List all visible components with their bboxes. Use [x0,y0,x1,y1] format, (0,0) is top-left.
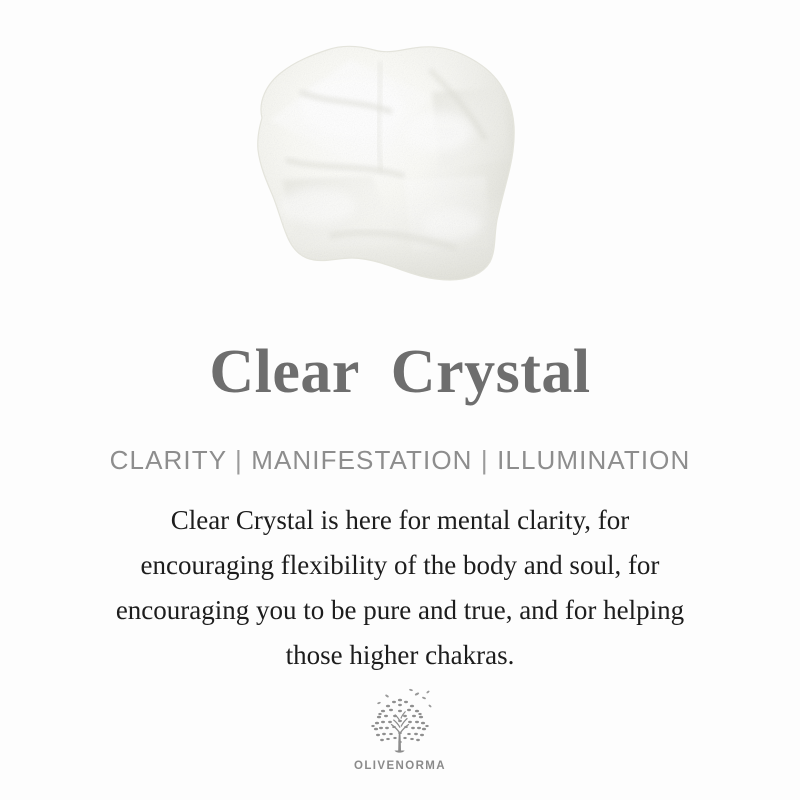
description-line: encouraging you to be pure and true, and… [40,588,760,633]
product-info-card: Clear Crystal CLARITY | MANIFESTATION | … [0,0,800,800]
keyword-separator-2: | [473,445,498,475]
brand-name: OLIVENORMA [354,760,446,772]
keyword-illumination: ILLUMINATION [497,445,690,475]
keyword-manifestation: MANIFESTATION [251,445,472,475]
keyword-list: CLARITY | MANIFESTATION | ILLUMINATION [0,444,800,476]
description-line: Clear Crystal is here for mental clarity… [40,498,760,543]
keyword-clarity: CLARITY [110,445,227,475]
clear-crystal-raw-stone-image [0,0,800,320]
crystal-surface-detail [240,30,540,300]
page-title: Clear Crystal [0,336,800,408]
description-line: those higher chakras. [40,633,760,678]
keyword-separator-1: | [227,445,252,475]
brand-logo: OLIVENORMA [0,684,800,772]
description-line: encouraging flexibility of the body and … [40,543,760,588]
product-description: Clear Crystal is here for mental clarity… [40,498,760,678]
olive-tree-icon [357,684,443,758]
product-image-container [0,0,800,320]
